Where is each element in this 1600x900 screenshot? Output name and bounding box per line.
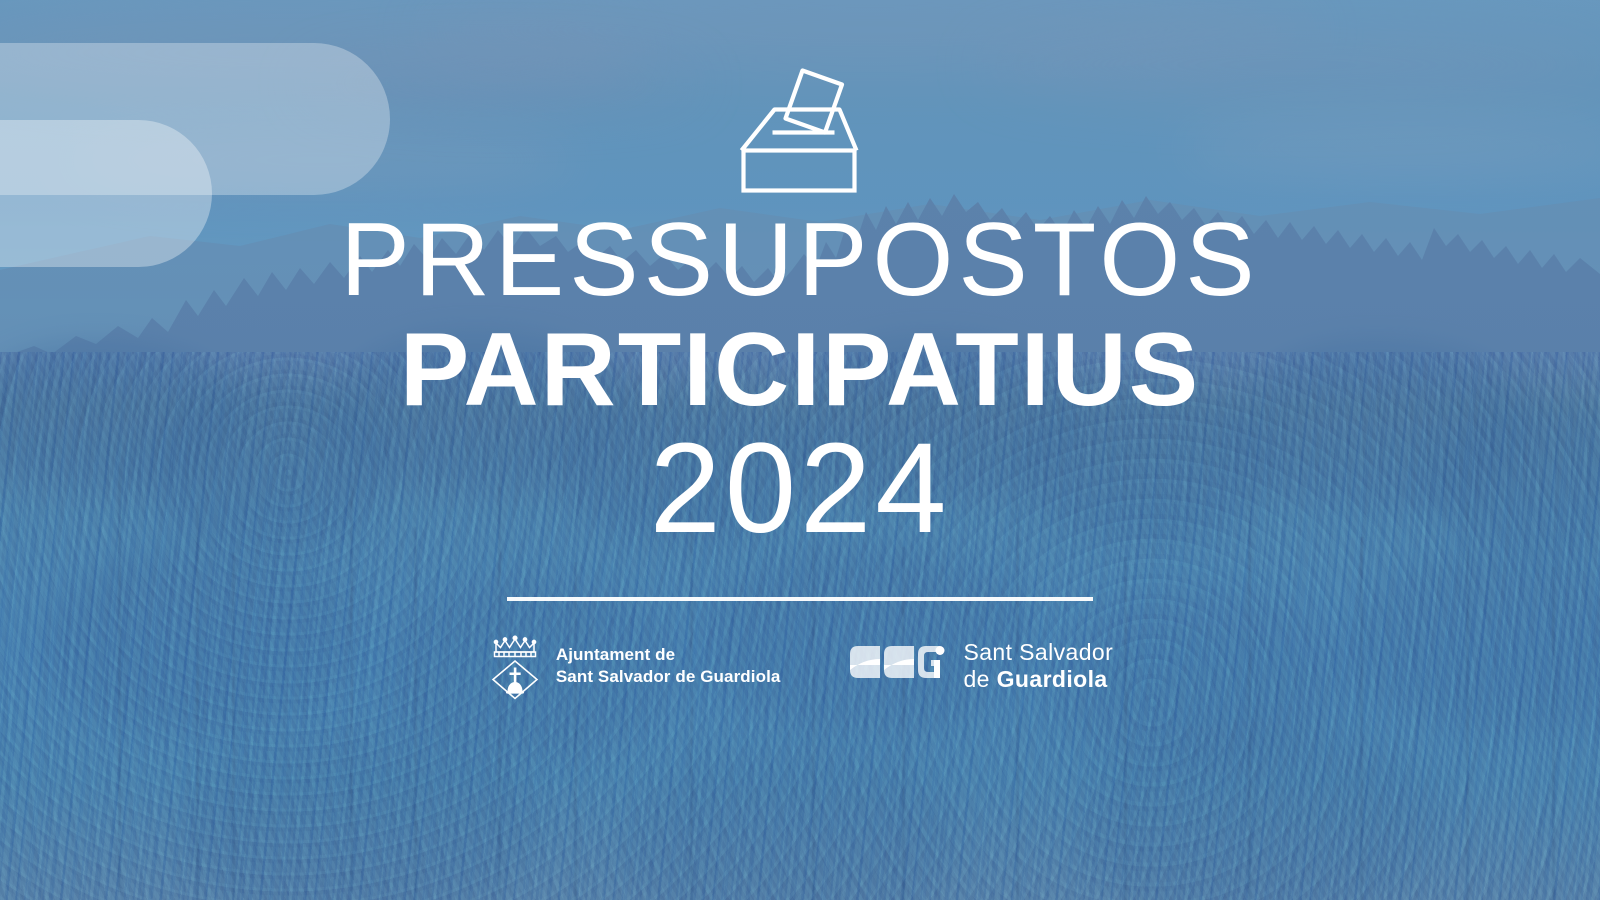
ajuntament-line-1: Ajuntament de [556,644,781,666]
poster-content: PRESSUPOSTOS PARTICIPATIUS 2024 [0,0,1600,900]
ssg-monogram-icon [850,646,950,686]
ajuntament-line-2: Sant Salvador de Guardiola [556,666,781,688]
logo-row: Ajuntament de Sant Salvador de Guardiola [487,631,1113,701]
ssg-line-2-light: de [963,666,996,692]
title-line-2: PARTICIPATIUS [340,312,1259,428]
ssg-logo[interactable]: Sant Salvador de Guardiola [850,639,1113,692]
ssg-line-2-bold: Guardiola [997,666,1108,692]
title-line-1: PRESSUPOSTOS [340,208,1259,312]
ssg-line-2: de Guardiola [963,666,1113,693]
ajuntament-wordmark: Ajuntament de Sant Salvador de Guardiola [556,644,781,688]
ajuntament-crest-icon [487,631,543,701]
ssg-wordmark: Sant Salvador de Guardiola [963,639,1113,692]
poster-canvas: PRESSUPOSTOS PARTICIPATIUS 2024 [0,0,1600,900]
ballot-box-icon [738,62,862,194]
title-divider [507,597,1093,601]
ajuntament-logo[interactable]: Ajuntament de Sant Salvador de Guardiola [487,631,781,701]
ssg-line-1: Sant Salvador [963,639,1113,666]
page-title: PRESSUPOSTOS PARTICIPATIUS 2024 [340,208,1259,555]
title-year: 2024 [340,424,1259,555]
